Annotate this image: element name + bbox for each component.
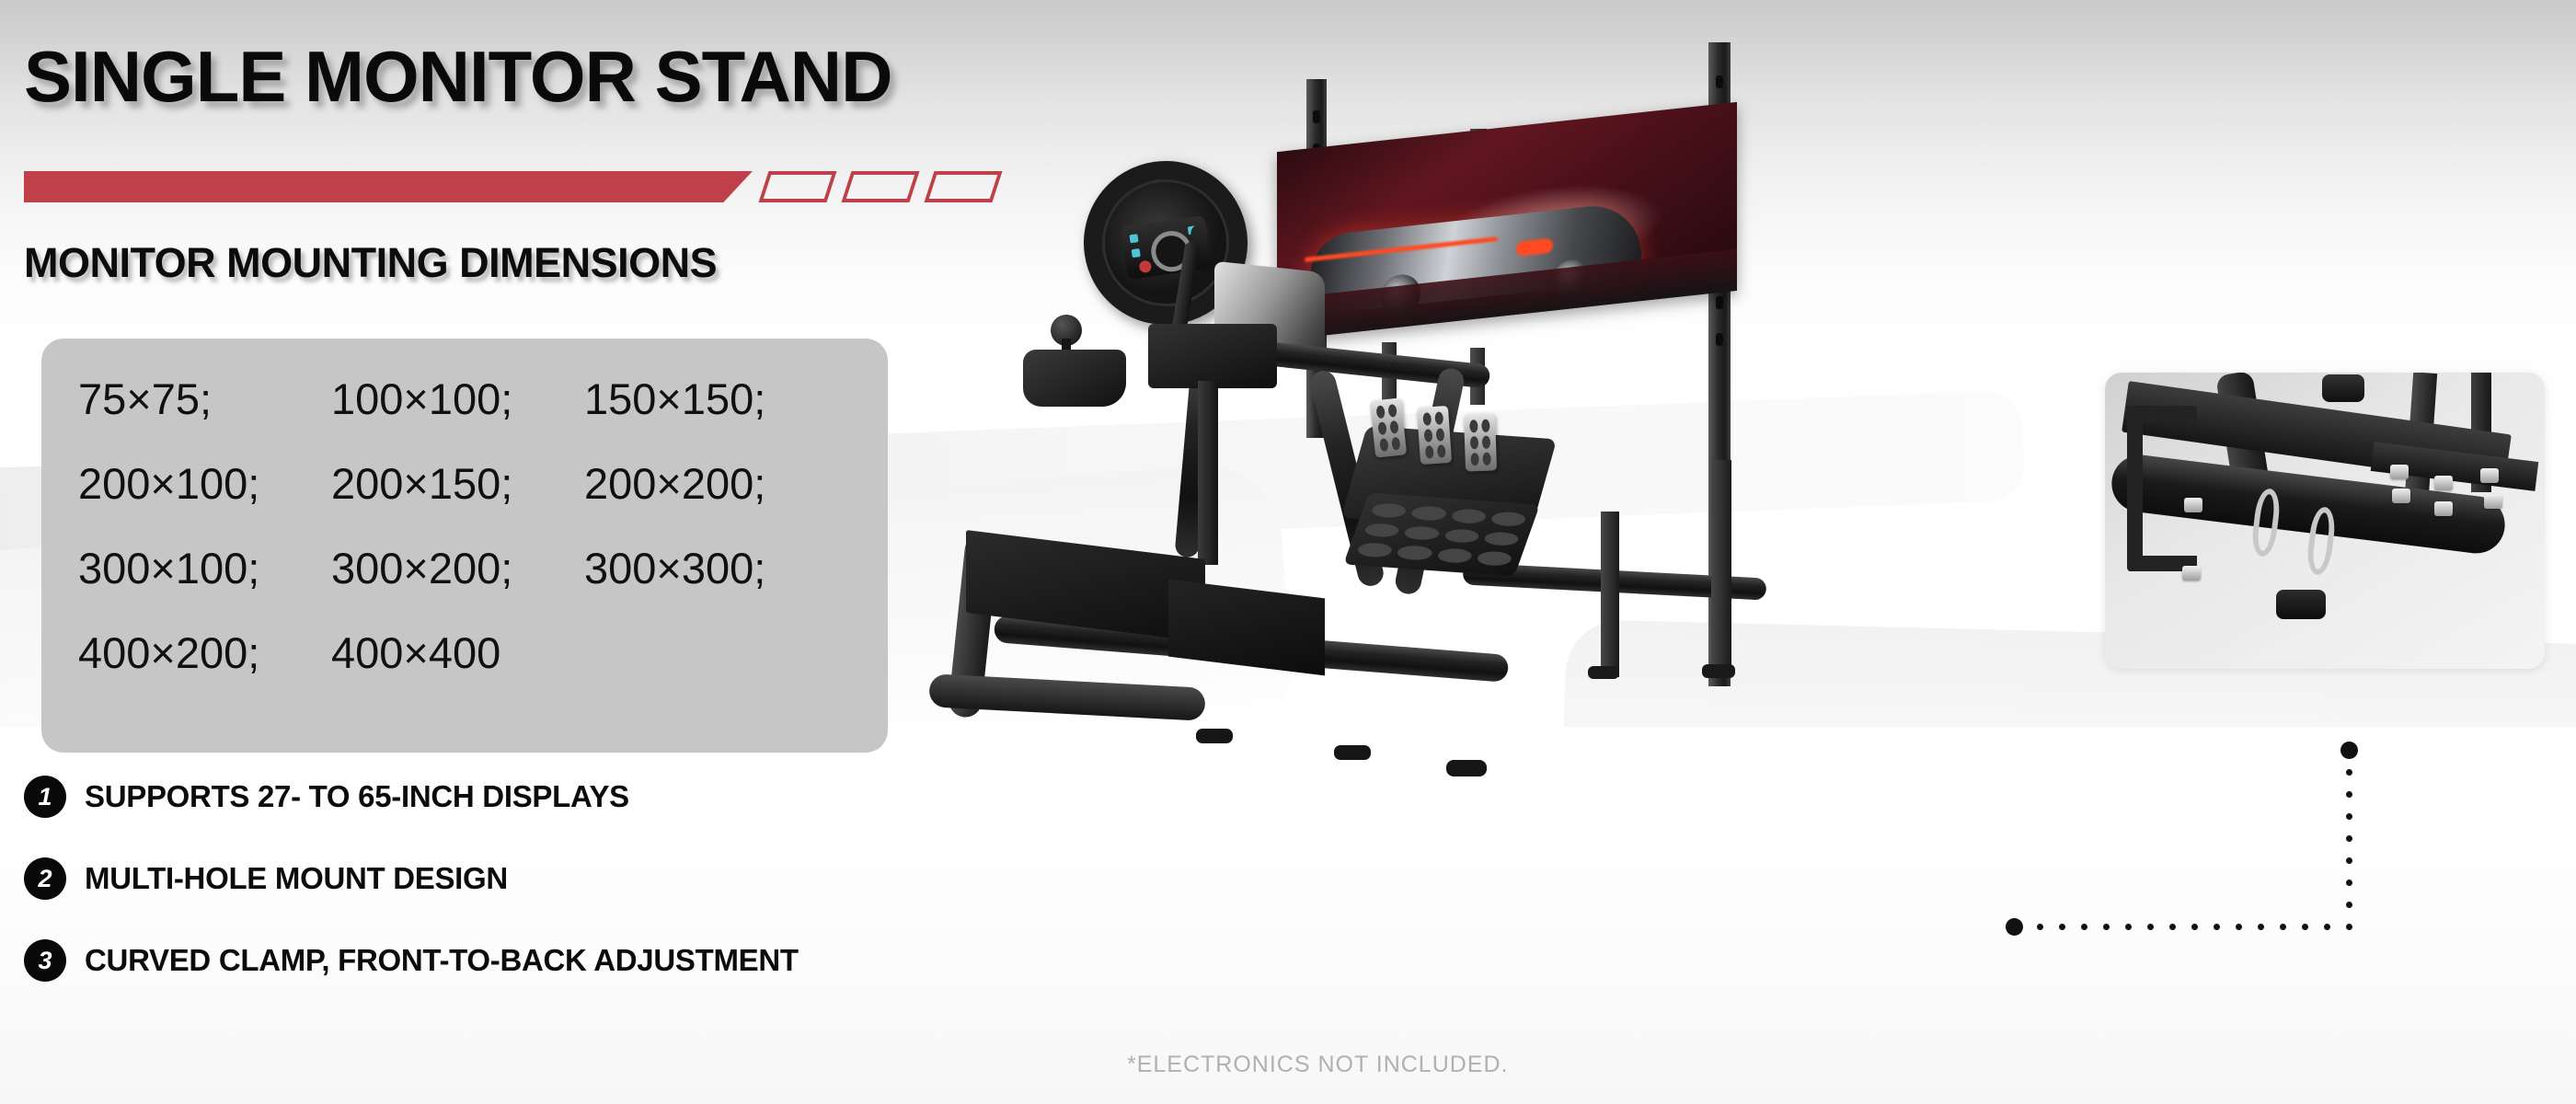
dimension-value: 150×150; — [584, 374, 837, 424]
dimension-value: 300×100; — [78, 543, 331, 593]
inset-foot-pad — [2276, 590, 2326, 619]
monitor-screen — [1277, 102, 1737, 340]
gear-shifter — [1023, 350, 1126, 407]
inset-bolt — [2182, 566, 2201, 581]
inset-mounting-bracket — [2127, 406, 2197, 571]
feature-label: SUPPORTS 27- TO 65-INCH DISPLAYS — [85, 779, 629, 814]
feature-label: CURVED CLAMP, FRONT-TO-BACK ADJUSTMENT — [85, 943, 799, 978]
pedal-accelerator — [1464, 413, 1497, 471]
inset-bolt — [2480, 468, 2499, 483]
dimension-value: 300×200; — [331, 543, 584, 593]
inset-bolt — [2484, 494, 2502, 509]
rear-leg-right — [1711, 460, 1731, 672]
base-foot-pad — [1446, 760, 1487, 776]
feature-list: 1 SUPPORTS 27- TO 65-INCH DISPLAYS 2 MUL… — [24, 776, 1036, 1021]
feature-label: MULTI-HOLE MOUNT DESIGN — [85, 861, 508, 896]
chevron-shape-1 — [758, 171, 836, 202]
dimension-value: 200×150; — [331, 458, 584, 509]
inset-adjust-knob — [2322, 374, 2364, 402]
feature-number-badge: 3 — [24, 939, 66, 982]
feature-item: 2 MULTI-HOLE MOUNT DESIGN — [24, 857, 1036, 900]
feature-number-badge: 1 — [24, 776, 66, 818]
pedal-footrest — [1343, 492, 1539, 576]
dimension-row: 75×75; 100×100; 150×150; — [78, 374, 888, 424]
rear-leg-inner — [1601, 512, 1619, 677]
dimension-row: 400×200; 400×400 — [78, 627, 888, 678]
callout-endpoint-dot — [2340, 742, 2358, 759]
dimension-value: 100×100; — [331, 374, 584, 424]
base-foot-pad — [1196, 729, 1233, 743]
feature-item: 1 SUPPORTS 27- TO 65-INCH DISPLAYS — [24, 776, 1036, 818]
inset-bolt — [2184, 498, 2202, 512]
inset-bolt — [2434, 476, 2453, 490]
inset-bolt — [2392, 489, 2410, 503]
product-banner: SINGLE MONITOR STAND MONITOR MOUNTING DI… — [0, 0, 2576, 1104]
product-image — [1030, 0, 2061, 1104]
feature-item: 3 CURVED CLAMP, FRONT-TO-BACK ADJUSTMENT — [24, 939, 1036, 982]
callout-dotted-line — [1932, 764, 2374, 938]
handbrake-column — [1198, 381, 1218, 565]
handbrake-mount — [1148, 324, 1277, 388]
inset-bolt — [2434, 501, 2453, 516]
dimension-value: 200×200; — [584, 458, 837, 509]
dimension-row: 200×100; 200×150; 200×200; — [78, 458, 888, 509]
inset-bolt — [2390, 465, 2409, 479]
dimension-value — [584, 627, 837, 678]
accent-bar — [24, 171, 753, 202]
dimension-value: 75×75; — [78, 374, 331, 424]
dimension-value: 200×100; — [78, 458, 331, 509]
callout-endpoint-dot — [2006, 918, 2023, 936]
accent-bar-group — [24, 171, 944, 213]
dimension-row: 300×100; 300×200; 300×300; — [78, 543, 888, 593]
dimension-value: 300×300; — [584, 543, 837, 593]
pedal-clutch — [1370, 397, 1407, 457]
base-foot-pad — [1334, 745, 1371, 760]
leg-foot-pad — [1588, 666, 1619, 679]
chevron-shape-3 — [924, 171, 1002, 202]
feature-number-badge: 2 — [24, 857, 66, 900]
chevron-shape-2 — [841, 171, 919, 202]
curved-clamp-closeup — [2105, 373, 2545, 669]
dimension-value: 400×400 — [331, 627, 584, 678]
pedal-brake — [1417, 406, 1452, 465]
leg-foot-pad — [1702, 664, 1735, 678]
page-title: SINGLE MONITOR STAND — [24, 35, 891, 119]
section-subtitle: MONITOR MOUNTING DIMENSIONS — [24, 239, 717, 287]
dimension-value: 400×200; — [78, 627, 331, 678]
mounting-dimensions-box: 75×75; 100×100; 150×150; 200×100; 200×15… — [41, 339, 888, 753]
seat-mount-panel-2 — [1168, 580, 1325, 676]
